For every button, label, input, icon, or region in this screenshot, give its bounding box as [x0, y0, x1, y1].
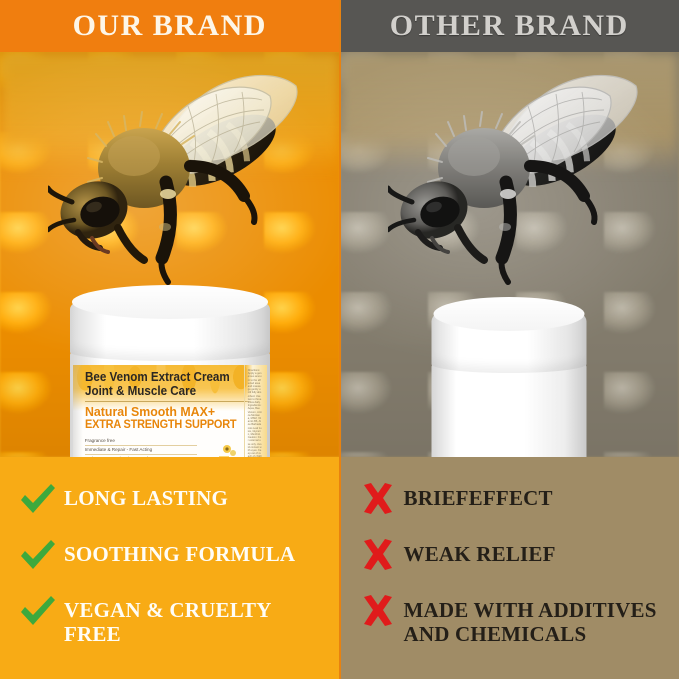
feature-row: SOOTHING FORMULA: [18, 539, 330, 571]
jar-body: [432, 361, 587, 457]
our-brand-feature-list: LONG LASTING SOOTHING FORMULA VEGAN & CR…: [0, 457, 340, 679]
honeybee-icon: [48, 62, 312, 292]
jar-lid: [70, 287, 270, 361]
jar-lid-top: [434, 297, 585, 331]
drawback-row: WEAK RELIEF: [358, 539, 670, 571]
feature-label: LONG LASTING: [64, 483, 228, 510]
product-benefit-item: Immediate & Repair - Fast Acting: [85, 446, 197, 455]
other-brand-photo: [340, 52, 679, 457]
check-icon: [18, 539, 58, 571]
other-brand-header: OTHER BRAND: [340, 0, 679, 52]
other-brand-title: OTHER BRAND: [390, 11, 629, 41]
product-label: Bee Venom Extract Cream Joint & Muscle C…: [73, 365, 267, 457]
feature-row: LONG LASTING: [18, 483, 330, 515]
jar-lid: [432, 299, 587, 373]
drawback-label: MADE WITH ADDITIVES AND CHEMICALS: [404, 595, 670, 646]
cross-icon: [358, 483, 398, 515]
product-benefit-item: Fragrance free: [85, 437, 197, 446]
drawback-label: BRIEFEFFECT: [404, 483, 553, 510]
cross-icon: [358, 539, 398, 571]
drawback-row: BRIEFEFFECT: [358, 483, 670, 515]
our-brand-header: OUR BRAND: [0, 0, 340, 52]
other-brand-feature-list: BRIEFEFFECT WEAK RELIEF MADE WITH ADDITI…: [340, 457, 679, 679]
column-divider: [339, 0, 341, 679]
feature-label: VEGAN & CRUELTY FREE: [64, 595, 330, 646]
check-icon: [18, 483, 58, 515]
product-title-line-1: Bee Venom Extract Cream: [85, 371, 241, 385]
jar-lid-top: [72, 285, 268, 319]
drawback-label: WEAK RELIEF: [404, 539, 556, 566]
cross-icon: [358, 595, 398, 627]
drawback-row: MADE WITH ADDITIVES AND CHEMICALS: [358, 595, 670, 646]
feature-label: SOOTHING FORMULA: [64, 539, 295, 566]
honey-hive-illustration: [199, 443, 241, 457]
our-brand-photo: Bee Venom Extract Cream Joint & Muscle C…: [0, 52, 340, 457]
feature-row: VEGAN & CRUELTY FREE: [18, 595, 330, 646]
check-icon: [18, 595, 58, 627]
label-side-fine-print: Directions: Apply a generous amount to t…: [248, 369, 262, 457]
honeybee-icon: [388, 62, 652, 292]
our-brand-column: OUR BRAND: [0, 0, 340, 679]
other-brand-product-jar: [432, 299, 587, 457]
label-divider-rule: [85, 401, 251, 402]
product-title-line-2: Joint & Muscle Care: [85, 385, 241, 399]
product-subtitle-2: EXTRA STRENGTH SUPPORT: [85, 419, 245, 432]
product-subtitle-1: Natural Smooth MAX+: [85, 405, 245, 419]
our-brand-title: OUR BRAND: [73, 11, 267, 41]
other-brand-column: OTHER BRAND: [340, 0, 679, 679]
our-brand-product-jar: Bee Venom Extract Cream Joint & Muscle C…: [70, 287, 270, 457]
label-side-panel: Directions: Apply a generous amount to t…: [244, 365, 267, 457]
product-benefit-list: Fragrance free Immediate & Repair - Fast…: [85, 437, 197, 457]
comparison-poster: OUR BRAND: [0, 0, 679, 679]
